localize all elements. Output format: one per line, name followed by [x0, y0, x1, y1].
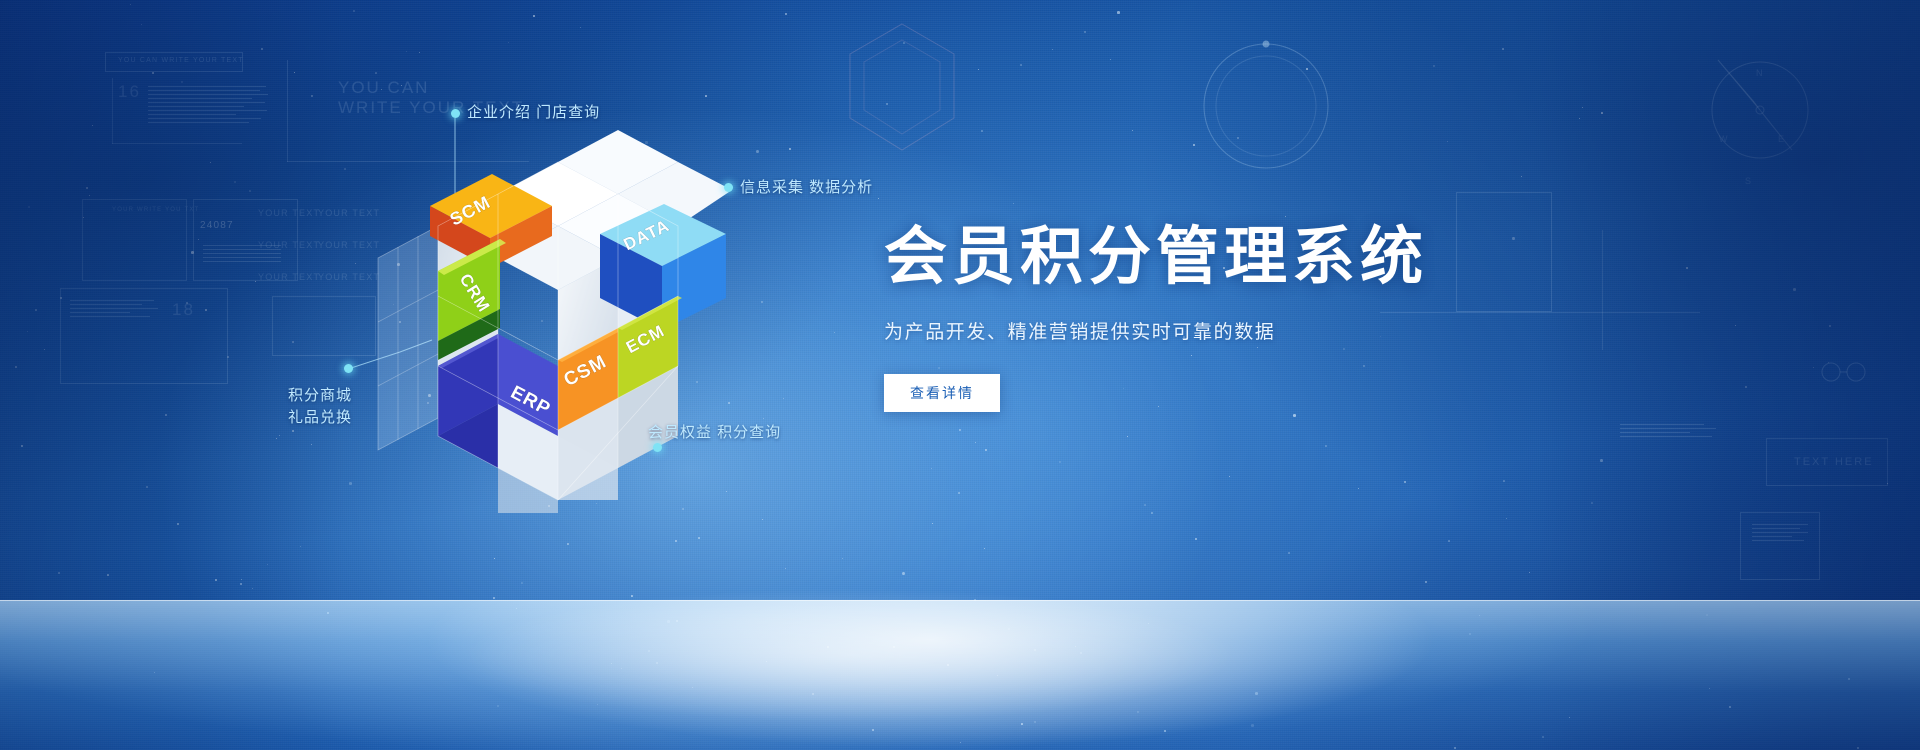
hero-copy: 会员积分管理系统 为产品开发、精准营销提供实时可靠的数据 查看详情 [884, 222, 1644, 412]
hud-text-you-can: YOU CAN [338, 78, 429, 98]
callout-right: 信息采集 数据分析 [740, 176, 873, 197]
hud-text-6: YOUR TEXT [258, 208, 320, 218]
hud-frame-2 [82, 199, 187, 281]
callout-left: 积分商城 礼品兑换 [288, 385, 352, 429]
callout-left-line2: 礼品兑换 [288, 409, 352, 426]
hero-banner: YOU CAN WRITE YOUR TEXT 16 YOU CAN WRITE… [0, 0, 1920, 750]
hud-frame-1 [105, 52, 243, 72]
callout-left-line1: 积分商城 [288, 387, 352, 404]
hud-circle-big [1196, 36, 1336, 176]
compass-label-n: N [1756, 68, 1764, 78]
callout-dot-top [451, 109, 460, 118]
hud-line-2 [112, 143, 242, 144]
hud-number-18: 18 [172, 300, 195, 320]
callout-dot-left [344, 364, 353, 373]
floor-reflection [0, 600, 1920, 750]
hud-frame-3 [193, 199, 298, 281]
hud-number-24087: 24087 [200, 220, 234, 231]
hud-paragraph-1 [148, 86, 268, 126]
hud-glasses-icon [1818, 358, 1870, 386]
hud-paragraph-2 [70, 300, 158, 320]
hud-text-2: YOUR WRITE YOU TXT [112, 207, 199, 213]
page-subtitle: 为产品开发、精准营销提供实时可靠的数据 [884, 317, 1644, 344]
compass-label-s: S [1745, 176, 1752, 186]
hud-text-1: YOU CAN WRITE YOUR TEXT [118, 57, 244, 64]
hud-line-1 [112, 78, 113, 144]
hud-text-here: TEXT HERE [1794, 456, 1874, 468]
hud-text-8: YOUR TEXT [258, 272, 320, 282]
compass-icon [1700, 50, 1820, 170]
hud-frame-7 [1766, 438, 1888, 486]
compass-label-e: E [1778, 134, 1785, 144]
callout-dot-right [724, 183, 733, 192]
hud-frame-4 [60, 288, 228, 384]
hud-line-3 [287, 60, 288, 162]
view-details-button[interactable]: 查看详情 [884, 374, 1000, 412]
hud-paragraph-3 [1620, 424, 1716, 440]
hud-hexagon [842, 18, 962, 158]
callout-top: 企业介绍 门店查询 [467, 101, 600, 122]
callout-bottom: 会员权益 积分查询 [648, 421, 781, 442]
hud-text-7: YOUR TEXT [258, 240, 320, 250]
hud-number-16: 16 [118, 82, 141, 102]
rubiks-cube-illustration: SCM CRM DATA ERP [352, 168, 732, 508]
page-title: 会员积分管理系统 [884, 222, 1644, 293]
callout-dot-bottom [653, 443, 662, 452]
cube-ghost-slab [378, 226, 438, 450]
hud-frame-8 [1740, 512, 1820, 580]
hud-paragraph-4 [1752, 524, 1808, 544]
compass-label-w: W [1719, 134, 1729, 144]
hud-line-4 [287, 161, 529, 162]
hud-grid-1 [203, 245, 281, 265]
